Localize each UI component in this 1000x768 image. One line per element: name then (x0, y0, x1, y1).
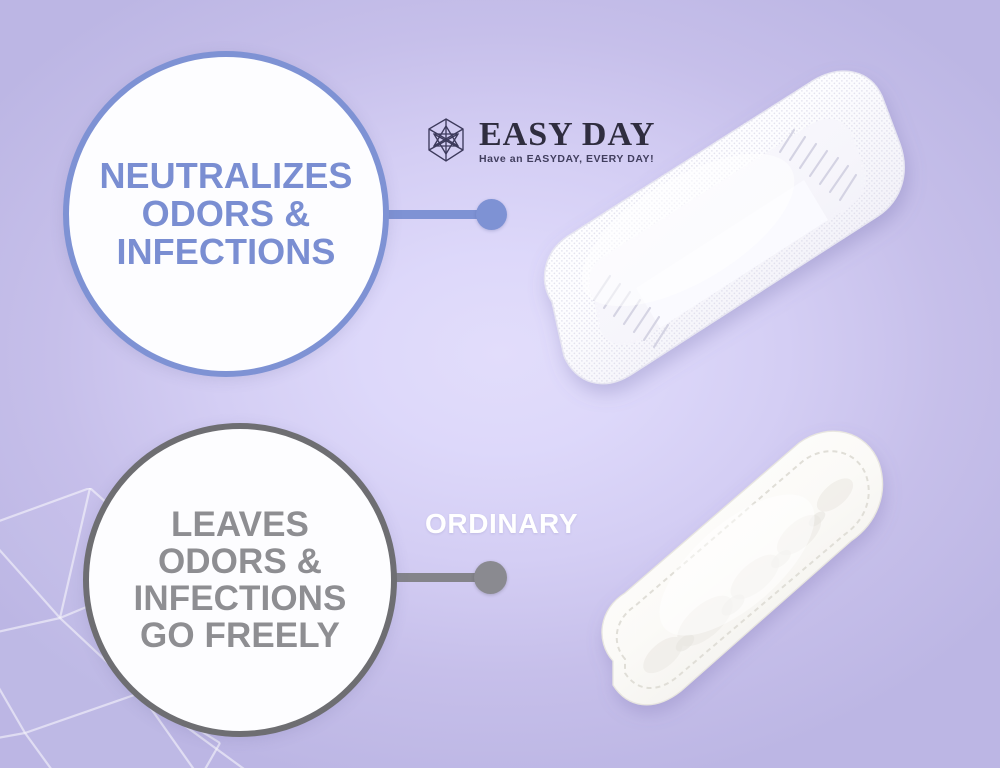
caption-ordinary: ORDINARY (425, 508, 578, 540)
badge-neutralizes: NEUTRALIZES ODORS & INFECTIONS (63, 51, 389, 377)
badge-leaves-odors: LEAVES ODORS & INFECTIONS GO FREELY (83, 423, 397, 737)
connector-primary-dot (476, 199, 507, 230)
badge-leaves-odors-line-2: ODORS & (134, 543, 347, 580)
geometric-star-polygon-icon (422, 116, 470, 166)
badge-leaves-odors-line-1: LEAVES (134, 506, 347, 543)
badge-neutralizes-line-1: NEUTRALIZES (99, 157, 352, 195)
badge-leaves-odors-line-4: GO FREELY (134, 617, 347, 654)
brand-name: EASY DAY (479, 118, 655, 152)
infographic-canvas: NEUTRALIZES ODORS & INFECTIONS LEAVES OD… (0, 0, 1000, 768)
brand-logo: EASY DAY Have an EASYDAY, EVERY DAY! (422, 116, 655, 166)
badge-neutralizes-line-2: ODORS & (99, 195, 352, 233)
connector-secondary-dot (474, 561, 507, 594)
badge-leaves-odors-text: LEAVES ODORS & INFECTIONS GO FREELY (120, 506, 361, 654)
brand-tagline: Have an EASYDAY, EVERY DAY! (479, 154, 655, 165)
badge-neutralizes-line-3: INFECTIONS (99, 233, 352, 271)
badge-neutralizes-text: NEUTRALIZES ODORS & INFECTIONS (85, 157, 366, 271)
product-image-ordinary-pad (585, 415, 915, 735)
badge-leaves-odors-line-3: INFECTIONS (134, 580, 347, 617)
brand-wordmark: EASY DAY Have an EASYDAY, EVERY DAY! (479, 118, 655, 165)
